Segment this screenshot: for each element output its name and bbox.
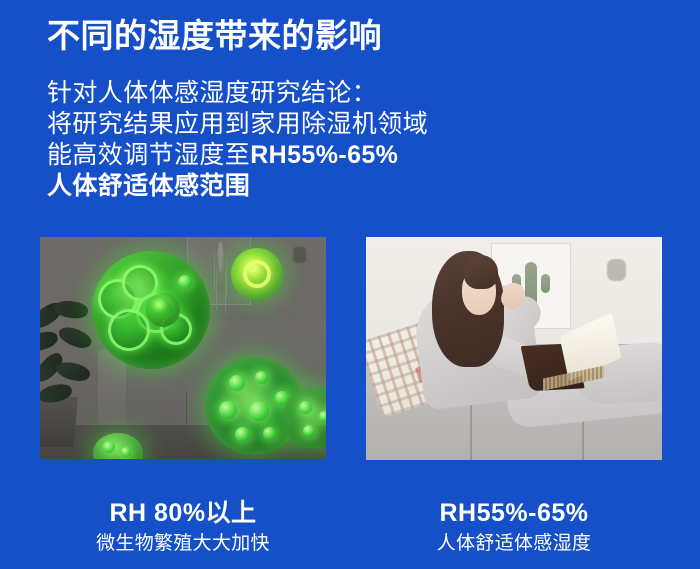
microbe-spore	[108, 309, 150, 351]
plant-pot	[40, 397, 78, 447]
sofa-seam	[470, 402, 472, 460]
wall-device-icon	[293, 247, 306, 263]
page-title: 不同的湿度带来的影响	[47, 17, 382, 55]
caption-right-subtitle: 人体舒适体感湿度	[366, 532, 662, 556]
microbe-spore	[263, 427, 276, 440]
image-high-humidity-microbes	[40, 237, 326, 459]
body-copy: 针对人体体感湿度研究结论： 将研究结果应用到家用除湿机领域 能高效调节湿度至RH…	[47, 78, 467, 202]
microbe-spore	[229, 375, 245, 391]
person-hair-front	[464, 255, 498, 289]
leaf	[54, 358, 92, 385]
microbe-spore	[319, 411, 326, 422]
body-copy-line-3-prefix: 能高效调节湿度至	[47, 141, 250, 169]
microbe-spore	[103, 441, 115, 453]
humidity-comparison-poster: 不同的湿度带来的影响 针对人体体感湿度研究结论： 将研究结果应用到家用除湿机领域…	[0, 0, 700, 569]
wall-speaker-icon	[607, 259, 626, 281]
microbe-spore	[235, 427, 250, 442]
microbe-spore	[255, 371, 268, 384]
body-copy-line-4: 人体舒适体感范围	[47, 171, 467, 202]
microbe-spore	[299, 401, 312, 414]
image-comfort-humidity-woman	[366, 237, 662, 460]
microbe-spore	[178, 275, 192, 289]
body-copy-line-3: 能高效调节湿度至RH55%-65%	[47, 140, 467, 171]
caption-left-subtitle: 微生物繁殖大大加快	[40, 532, 326, 556]
body-copy-line-1: 针对人体体感湿度研究结论：	[47, 78, 467, 109]
body-copy-line-2: 将研究结果应用到家用除湿机领域	[47, 109, 467, 140]
caption-right-title: RH55%-65%	[366, 498, 662, 528]
microbe-spore	[219, 401, 237, 419]
microbe-spore	[121, 447, 131, 457]
microbe-icon	[231, 248, 283, 300]
microbe-icon	[146, 293, 180, 327]
caption-left: RH 80%以上 微生物繁殖大大加快	[40, 498, 326, 556]
humidity-range-highlight: RH55%-65%	[250, 141, 398, 169]
leaf	[56, 322, 94, 352]
microbe-spore	[249, 401, 269, 421]
leaf	[53, 298, 90, 322]
caption-left-title: RH 80%以上	[40, 498, 326, 528]
caption-right: RH55%-65% 人体舒适体感湿度	[366, 498, 662, 556]
leaf	[40, 330, 59, 354]
microbe-spore	[303, 425, 315, 437]
